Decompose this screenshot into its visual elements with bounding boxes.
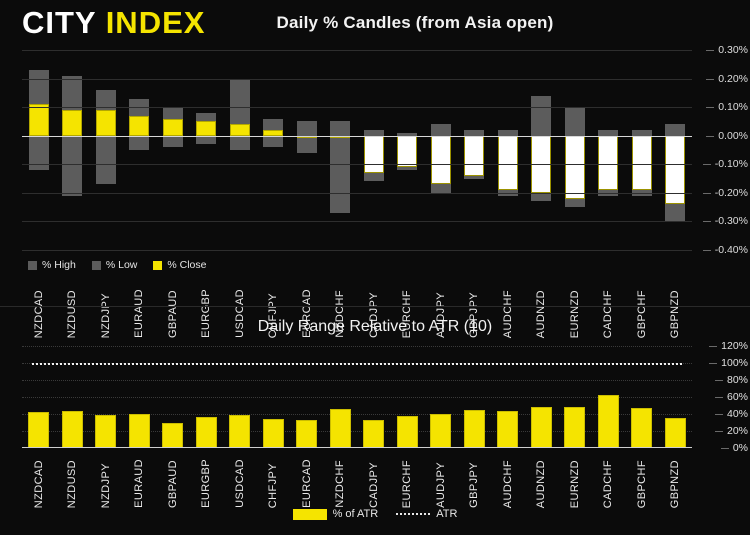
atr-bar <box>95 415 116 448</box>
candle-close-body <box>498 136 518 190</box>
y-axis-tick-mark <box>703 164 711 165</box>
y-axis-tick-mark <box>715 397 723 398</box>
candle <box>632 50 652 250</box>
candle <box>464 50 484 250</box>
y-axis-tick-label: 20% <box>727 425 748 437</box>
candles-chart: 0.30%0.20%0.10%0.00%-0.10%-0.20%-0.30%-0… <box>0 44 750 306</box>
gridline <box>22 107 692 108</box>
atr-bar <box>665 418 686 448</box>
x-axis-label: GBPCHF <box>636 460 648 508</box>
y-axis-tick-mark <box>709 346 717 347</box>
y-axis-tick-label: -0.10% <box>715 158 748 170</box>
atr-bar <box>62 411 83 448</box>
atr-bar <box>330 409 351 448</box>
legend-label-pct-atr: % of ATR <box>333 508 379 520</box>
header: CITY INDEX Daily % Candles (from Asia op… <box>0 0 750 44</box>
candle <box>96 50 116 250</box>
y-axis-tick-mark <box>721 448 729 449</box>
legend-swatch-high-icon <box>28 261 37 270</box>
atr-bar <box>464 410 485 448</box>
legend-swatch-low-icon <box>92 261 101 270</box>
x-axis-label: GBPNZD <box>669 460 681 508</box>
candle-close-body <box>598 136 618 190</box>
y-axis-tick-label: 0% <box>733 442 748 454</box>
x-axis-label: AUDJPY <box>435 462 447 508</box>
section-divider <box>0 306 750 307</box>
x-axis-label: AUDCHF <box>502 460 514 508</box>
gridline <box>22 397 692 398</box>
legend-label-low: % Low <box>106 259 138 271</box>
gridline <box>22 221 692 222</box>
atr-bar <box>531 407 552 448</box>
atr-bar <box>631 408 652 448</box>
y-axis-tick-mark <box>703 193 711 194</box>
gridline <box>22 50 692 51</box>
x-axis-label: EURCAD <box>301 459 313 508</box>
legend-swatch-pct-atr-icon <box>293 509 327 520</box>
gridline <box>22 431 692 432</box>
candle <box>397 50 417 250</box>
x-axis-label: NZDCAD <box>33 460 45 508</box>
gridline <box>22 346 692 347</box>
gridline <box>22 250 692 251</box>
y-axis-tick-label: 40% <box>727 408 748 420</box>
candle-close-body <box>665 136 685 205</box>
x-axis-label: GBPJPY <box>468 462 480 508</box>
atr-bar <box>28 412 49 448</box>
atr-plot-area <box>22 346 692 448</box>
atr-bar <box>430 414 451 448</box>
atr-baseline <box>22 447 692 448</box>
candle <box>196 50 216 250</box>
y-axis-tick-mark <box>703 250 711 251</box>
legend-item-pct-atr: % of ATR <box>293 508 379 520</box>
dashboard-root: CITY INDEX Daily % Candles (from Asia op… <box>0 0 750 535</box>
candle-close-body <box>96 110 116 136</box>
candles-y-axis: 0.30%0.20%0.10%0.00%-0.10%-0.20%-0.30%-0… <box>692 50 750 250</box>
x-axis-label: EURNZD <box>569 460 581 508</box>
candle-close-body <box>632 136 652 190</box>
candle <box>263 50 283 250</box>
x-axis-label: USDCAD <box>234 459 246 508</box>
candle <box>163 50 183 250</box>
y-axis-tick-mark <box>706 107 714 108</box>
x-axis-label: CADJPY <box>368 462 380 508</box>
y-axis-tick-label: 0.30% <box>718 44 748 56</box>
candle-close-body <box>565 136 585 199</box>
candle-range-bar <box>96 90 116 184</box>
candle <box>330 50 350 250</box>
atr-reference-line <box>32 363 682 365</box>
legend-item-high: % High <box>28 259 76 271</box>
atr-bar <box>263 419 284 448</box>
x-axis-label: NZDCHF <box>334 460 346 508</box>
y-axis-tick-mark <box>706 136 714 137</box>
candle <box>531 50 551 250</box>
atr-bar <box>598 395 619 448</box>
y-axis-tick-label: 80% <box>727 374 748 386</box>
gridline <box>22 164 692 165</box>
atr-bar <box>229 415 250 448</box>
gridline <box>22 380 692 381</box>
candle-close-body <box>431 136 451 185</box>
y-axis-tick-label: 0.10% <box>718 101 748 113</box>
candle-close-body <box>464 136 484 176</box>
candle <box>565 50 585 250</box>
y-axis-tick-label: 0.00% <box>718 130 748 142</box>
y-axis-tick-label: 0.20% <box>718 73 748 85</box>
x-axis-label: CHFJPY <box>267 463 279 508</box>
candle <box>62 50 82 250</box>
atr-y-axis: 120%100%80%60%40%20%0% <box>692 346 750 448</box>
atr-bar <box>363 420 384 448</box>
candle-close-body <box>62 110 82 136</box>
atr-bar <box>162 423 183 449</box>
legend-label-close: % Close <box>167 259 206 271</box>
y-axis-tick-mark <box>703 221 711 222</box>
atr-legend: % of ATR ATR <box>0 508 750 520</box>
legend-item-atr: ATR <box>396 508 457 520</box>
legend-swatch-close-icon <box>153 261 162 270</box>
candles-group <box>22 50 692 250</box>
y-axis-tick-mark <box>715 414 723 415</box>
candle <box>297 50 317 250</box>
candle <box>230 50 250 250</box>
atr-bar <box>296 420 317 448</box>
candle-close-body <box>163 119 183 136</box>
candle-range-bar <box>230 79 250 150</box>
y-axis-tick-mark <box>706 79 714 80</box>
legend-label-high: % High <box>42 259 76 271</box>
y-axis-tick-label: 120% <box>721 340 748 352</box>
x-axis-label: NZDUSD <box>66 460 78 508</box>
y-axis-tick-mark <box>715 380 723 381</box>
candle <box>665 50 685 250</box>
x-axis-label: EURGBP <box>200 459 212 508</box>
candle <box>498 50 518 250</box>
atr-chart: Daily Range Relative to ATR (10) 120%100… <box>0 318 750 535</box>
y-axis-tick-label: 100% <box>721 357 748 369</box>
x-axis-label: NZDJPY <box>100 463 112 508</box>
candle-close-body <box>364 136 384 173</box>
chart2-title: Daily Range Relative to ATR (10) <box>0 318 750 336</box>
atr-x-axis-labels: NZDCADNZDUSDNZDJPYEURAUDGBPAUDEURGBPUSDC… <box>22 450 692 508</box>
candle <box>129 50 149 250</box>
legend-item-low: % Low <box>92 259 138 271</box>
legend-swatch-atr-icon <box>396 513 430 515</box>
x-axis-label: AUDNZD <box>535 460 547 508</box>
y-axis-tick-label: 60% <box>727 391 748 403</box>
candle-close-body <box>196 121 216 135</box>
x-axis-label: EURCHF <box>401 460 413 508</box>
x-axis-label: GBPAUD <box>167 460 179 508</box>
zero-line <box>22 136 692 137</box>
chart1-title: Daily % Candles (from Asia open) <box>0 13 750 33</box>
atr-bar <box>564 407 585 448</box>
atr-bar <box>196 417 217 448</box>
y-axis-tick-mark <box>709 363 717 364</box>
candle-close-body <box>397 136 417 167</box>
y-axis-tick-label: -0.20% <box>715 187 748 199</box>
y-axis-tick-label: -0.30% <box>715 215 748 227</box>
atr-bar <box>497 411 518 448</box>
candle-close-body <box>29 104 49 135</box>
gridline <box>22 193 692 194</box>
legend-item-close: % Close <box>153 259 206 271</box>
atr-bar <box>397 416 418 448</box>
candle <box>364 50 384 250</box>
gridline <box>22 414 692 415</box>
candle <box>431 50 451 250</box>
y-axis-tick-label: -0.40% <box>715 244 748 256</box>
y-axis-tick-mark <box>706 50 714 51</box>
x-axis-label: EURAUD <box>133 459 145 508</box>
atr-bar <box>129 414 150 448</box>
x-axis-label: CADCHF <box>602 460 614 508</box>
gridline <box>22 79 692 80</box>
candle <box>598 50 618 250</box>
candle <box>29 50 49 250</box>
candle-close-body <box>129 116 149 136</box>
candle-close-body <box>230 124 250 135</box>
legend-label-atr: ATR <box>436 508 457 520</box>
candles-legend: % High % Low % Close <box>28 256 206 274</box>
candles-plot-area <box>22 50 692 250</box>
y-axis-tick-mark <box>715 431 723 432</box>
